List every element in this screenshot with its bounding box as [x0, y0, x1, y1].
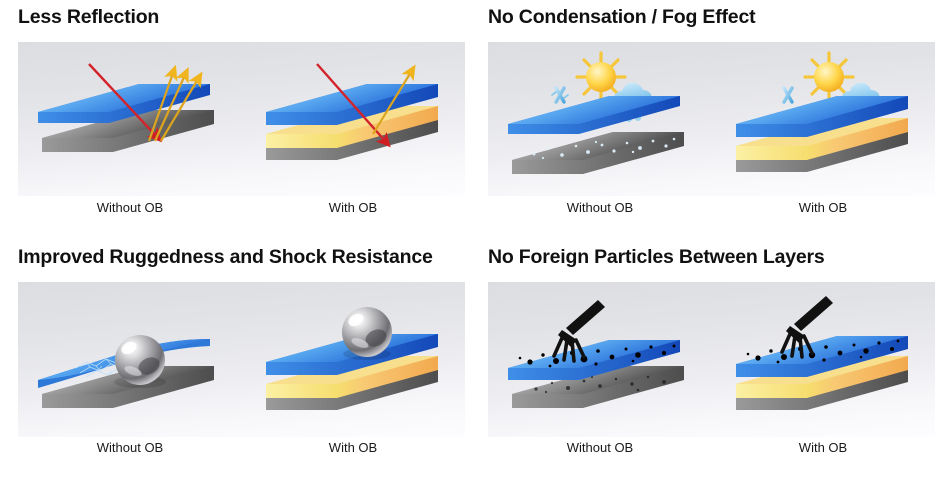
caption-without-ob-3: Without OB — [18, 440, 242, 455]
page-title-no-condensation: No Condensation / Fog Effect — [488, 6, 755, 29]
steel-ball-icon-2 — [342, 307, 392, 360]
stack-with-ob — [266, 84, 438, 160]
caption-row-improved-ruggedness: Without OB With OB — [18, 440, 465, 462]
steel-ball-icon — [114, 335, 166, 388]
page-title-improved-ruggedness: Improved Ruggedness and Shock Resistance — [18, 246, 433, 269]
snowflake-icon-2 — [780, 88, 796, 102]
snowflake-icon — [552, 88, 568, 102]
shock-diagram — [18, 282, 465, 437]
stack-condensation-with-ob — [736, 96, 908, 172]
feature-panel-improved-ruggedness: Improved Ruggedness and Shock Resistance — [0, 240, 470, 485]
caption-row-no-condensation: Without OB With OB — [488, 200, 935, 222]
page-title-less-reflection: Less Reflection — [18, 6, 159, 29]
caption-without-ob-4: Without OB — [488, 440, 712, 455]
caption-without-ob: Without OB — [18, 200, 242, 215]
feature-panel-no-foreign-particles: No Foreign Particles Between Layers — [470, 240, 940, 485]
caption-with-ob-3: With OB — [241, 440, 465, 455]
condensation-diagram — [488, 42, 935, 196]
page-title-no-foreign-particles: No Foreign Particles Between Layers — [488, 246, 825, 269]
caption-with-ob: With OB — [241, 200, 465, 215]
caption-with-ob-4: With OB — [711, 440, 935, 455]
illustration-no-condensation — [488, 42, 935, 196]
stack-shock-with-ob — [266, 307, 438, 410]
feature-panel-no-condensation: No Condensation / Fog Effect — [470, 0, 940, 240]
illustration-improved-ruggedness — [18, 282, 465, 437]
stack-without-ob — [38, 84, 214, 152]
caption-without-ob-2: Without OB — [488, 200, 712, 215]
stack-particles-with-ob — [736, 296, 908, 410]
caption-row-less-reflection: Without OB With OB — [18, 200, 465, 222]
reflection-diagram — [18, 42, 465, 196]
particles-diagram — [488, 282, 935, 437]
feature-panel-less-reflection: Less Reflection — [0, 0, 470, 240]
illustration-no-foreign-particles — [488, 282, 935, 437]
stack-particles-without-ob — [508, 300, 684, 408]
feature-grid: Less Reflection — [0, 0, 940, 485]
caption-with-ob-2: With OB — [711, 200, 935, 215]
stack-condensation-without-ob — [508, 96, 684, 174]
caption-row-no-foreign-particles: Without OB With OB — [488, 440, 935, 462]
stack-shock-without-ob — [38, 335, 214, 408]
illustration-less-reflection — [18, 42, 465, 196]
